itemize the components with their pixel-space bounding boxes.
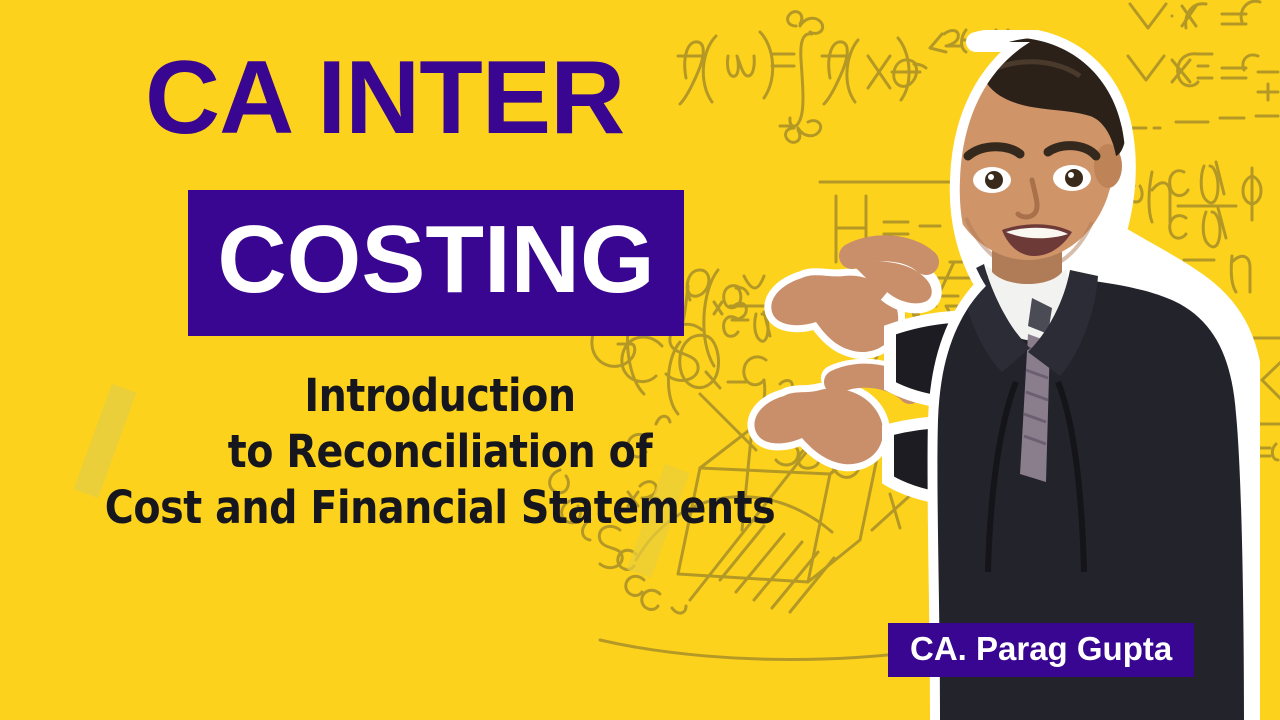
- subject-banner-label: COSTING: [217, 212, 654, 308]
- subject-banner: COSTING: [188, 190, 684, 336]
- subtitle-line-2: to Reconciliation of: [53, 424, 827, 480]
- subtitle-line-1: Introduction: [53, 368, 827, 424]
- presenter-name-label: CA. Parag Gupta: [910, 630, 1172, 667]
- video-thumbnail: CA INTER COSTING Introduction to Reconci…: [0, 0, 1280, 720]
- subtitle-line-3: Cost and Financial Statements: [53, 480, 827, 536]
- topic-subtitle: Introduction to Reconciliation of Cost a…: [53, 368, 827, 535]
- presenter-name-badge: CA. Parag Gupta: [888, 623, 1194, 677]
- page-title: CA INTER: [145, 44, 624, 153]
